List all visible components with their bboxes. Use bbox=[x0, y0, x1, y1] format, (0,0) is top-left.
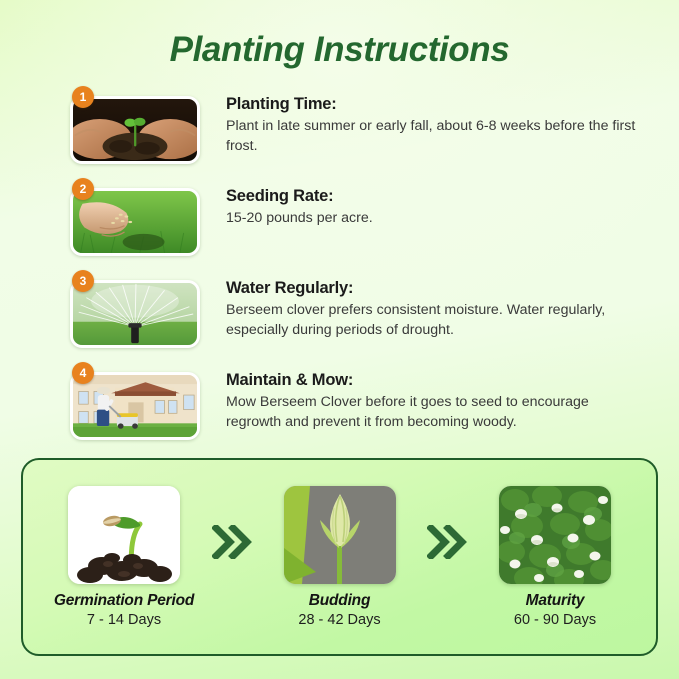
timeline-stage: Budding 28 - 42 Days bbox=[265, 486, 415, 628]
sprouting-seed-in-soil-image bbox=[68, 486, 180, 584]
timeline-stage: Germination Period 7 - 14 Days bbox=[49, 486, 199, 628]
hand-spreading-seed-on-grass-image bbox=[70, 188, 200, 256]
step-thumbnail-wrap: 3 bbox=[70, 280, 204, 348]
step-body: Mow Berseem Clover before it goes to see… bbox=[226, 393, 646, 432]
step-number-badge: 4 bbox=[72, 362, 94, 384]
stage-name: Budding bbox=[265, 592, 415, 610]
double-chevron-right-icon bbox=[208, 525, 256, 559]
step-body: 15-20 pounds per acre. bbox=[226, 209, 646, 229]
infographic-poster: Planting Instructions 1 bbox=[0, 0, 679, 679]
stage-duration: 28 - 42 Days bbox=[265, 612, 415, 628]
step-text-block: Maintain & Mow: Mow Berseem Clover befor… bbox=[204, 362, 670, 432]
step-body: Plant in late summer or early fall, abou… bbox=[226, 117, 646, 156]
stage-duration: 60 - 90 Days bbox=[480, 612, 630, 628]
step-heading: Maintain & Mow: bbox=[226, 371, 670, 390]
step-number-badge: 2 bbox=[72, 178, 94, 200]
step-heading: Planting Time: bbox=[226, 95, 670, 114]
step-number-badge: 3 bbox=[72, 270, 94, 292]
person-mowing-lawn-in-front-of-house-image bbox=[70, 372, 200, 440]
instruction-steps-list: 1 bbox=[70, 86, 670, 454]
step-thumbnail-wrap: 2 bbox=[70, 188, 204, 256]
stage-name: Maturity bbox=[480, 592, 630, 610]
field-of-blooming-white-clover-image bbox=[499, 486, 611, 584]
instruction-step: 4 bbox=[70, 362, 670, 440]
step-text-block: Planting Time: Plant in late summer or e… bbox=[204, 86, 670, 156]
step-heading: Water Regularly: bbox=[226, 279, 670, 298]
step-thumbnail-wrap: 1 bbox=[70, 96, 204, 164]
stage-name: Germination Period bbox=[49, 592, 199, 610]
instruction-step: 1 bbox=[70, 86, 670, 164]
clover-flower-bud-closeup-image bbox=[284, 486, 396, 584]
growth-timeline-panel: Germination Period 7 - 14 Days bbox=[21, 458, 658, 656]
step-number-badge: 1 bbox=[72, 86, 94, 108]
page-title: Planting Instructions bbox=[0, 30, 679, 70]
step-body: Berseem clover prefers consistent moistu… bbox=[226, 301, 646, 340]
instruction-step: 3 bbox=[70, 270, 670, 348]
lawn-sprinkler-spraying-water-image bbox=[70, 280, 200, 348]
step-thumbnail-wrap: 4 bbox=[70, 372, 204, 440]
hands-holding-soil-with-seedling-image bbox=[70, 96, 200, 164]
instruction-step: 2 bbox=[70, 178, 670, 256]
timeline-stage: Maturity 60 - 90 Days bbox=[480, 486, 630, 628]
stage-duration: 7 - 14 Days bbox=[49, 612, 199, 628]
step-heading: Seeding Rate: bbox=[226, 187, 670, 206]
step-text-block: Seeding Rate: 15-20 pounds per acre. bbox=[204, 178, 670, 229]
step-text-block: Water Regularly: Berseem clover prefers … bbox=[204, 270, 670, 340]
double-chevron-right-icon bbox=[423, 525, 471, 559]
